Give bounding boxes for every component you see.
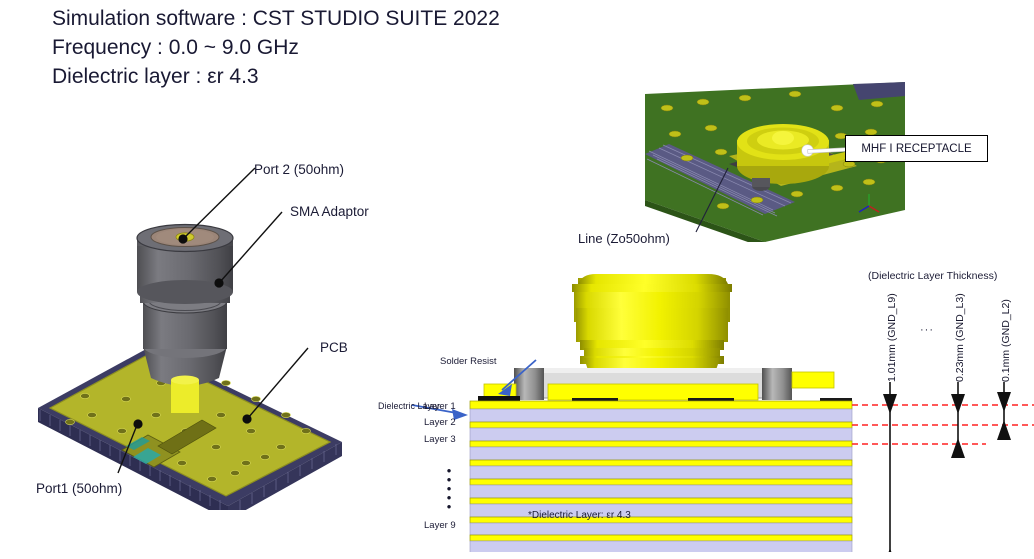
callout-mhf-receptacle: MHF I RECEPTACLE — [845, 135, 988, 162]
label-layer-2: Layer 2 — [424, 417, 456, 428]
thickness-group-title: (Dielectric Layer Thickness) — [868, 270, 997, 282]
pcb-cross-section-diagram: Solder Resist Dielectric Layer Layer 1 L… — [400, 262, 1034, 552]
header-line-dielectric: Dielectric layer : εr 4.3 — [52, 62, 612, 91]
label-layer-9: Layer 9 — [424, 520, 456, 531]
dim-ellipsis: ··· — [920, 324, 934, 336]
label-sma-adaptor: SMA Adaptor — [290, 204, 369, 219]
label-layer-3: Layer 3 — [424, 434, 456, 445]
label-solder-resist: Solder Resist — [440, 356, 497, 367]
header-line-software: Simulation software : CST STUDIO SUITE 2… — [52, 4, 612, 33]
label-port1: Port1 (50ohm) — [36, 481, 122, 496]
dim-label-0-1mm: 0.1mm (GND_L2) — [1000, 299, 1012, 382]
ellipsis-dot-5: • — [444, 502, 454, 511]
cross-section-svg — [400, 262, 1034, 552]
layer-ellipsis: • • • • • — [444, 466, 454, 511]
label-layer-1: Layer 1 — [424, 401, 456, 412]
dim-label-1-01mm: 1.01mm (GND_L9) — [886, 293, 898, 382]
callout-label: MHF I RECEPTACLE — [861, 143, 971, 155]
model-leader-lines — [20, 140, 420, 520]
label-port2: Port 2 (50ohm) — [254, 162, 344, 177]
sma-pcb-3d-model — [20, 140, 420, 520]
label-line-zo50ohm: Line (Zo50ohm) — [578, 231, 670, 246]
label-pcb: PCB — [320, 340, 348, 355]
dim-label-0-23mm: 0.23mm (GND_L3) — [954, 293, 966, 382]
footnote-dielectric: *Dielectric Layer: εr 4.3 — [528, 510, 631, 521]
header-line-frequency: Frequency : 0.0 ~ 9.0 GHz — [52, 33, 612, 62]
header-text-block: Simulation software : CST STUDIO SUITE 2… — [52, 4, 612, 91]
